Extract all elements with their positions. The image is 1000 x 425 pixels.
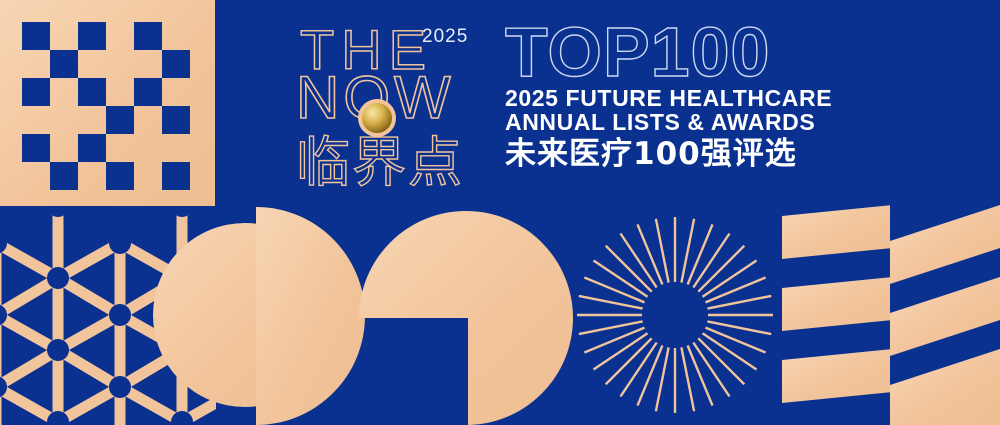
- decorative-graphics: [0, 0, 1000, 425]
- checkerboard-pattern: [0, 0, 215, 206]
- headline-english-line1: 2025 FUTURE HEALTHCARE: [505, 86, 845, 111]
- poster-banner: THE 2025 NOW 临界点 TOP100 2025 FUTURE HEAL…: [0, 0, 1000, 425]
- headline-block: TOP100 2025 FUTURE HEALTHCARE ANNUAL LIS…: [505, 20, 845, 172]
- slanted-bars-panel-right: [890, 205, 1000, 425]
- headline-chinese: 未来医疗100强评选: [505, 137, 845, 172]
- logo-year-2025: 2025: [422, 26, 468, 48]
- headline-top100: TOP100: [505, 20, 845, 86]
- slanted-bars-panel-left: [782, 205, 892, 403]
- logo-text-chinese: 临界点: [296, 136, 464, 190]
- notched-circle-shape: [350, 200, 590, 425]
- headline-english-line2: ANNUAL LISTS & AWARDS: [505, 110, 845, 135]
- logo-lockup: THE 2025 NOW 临界点: [296, 18, 492, 194]
